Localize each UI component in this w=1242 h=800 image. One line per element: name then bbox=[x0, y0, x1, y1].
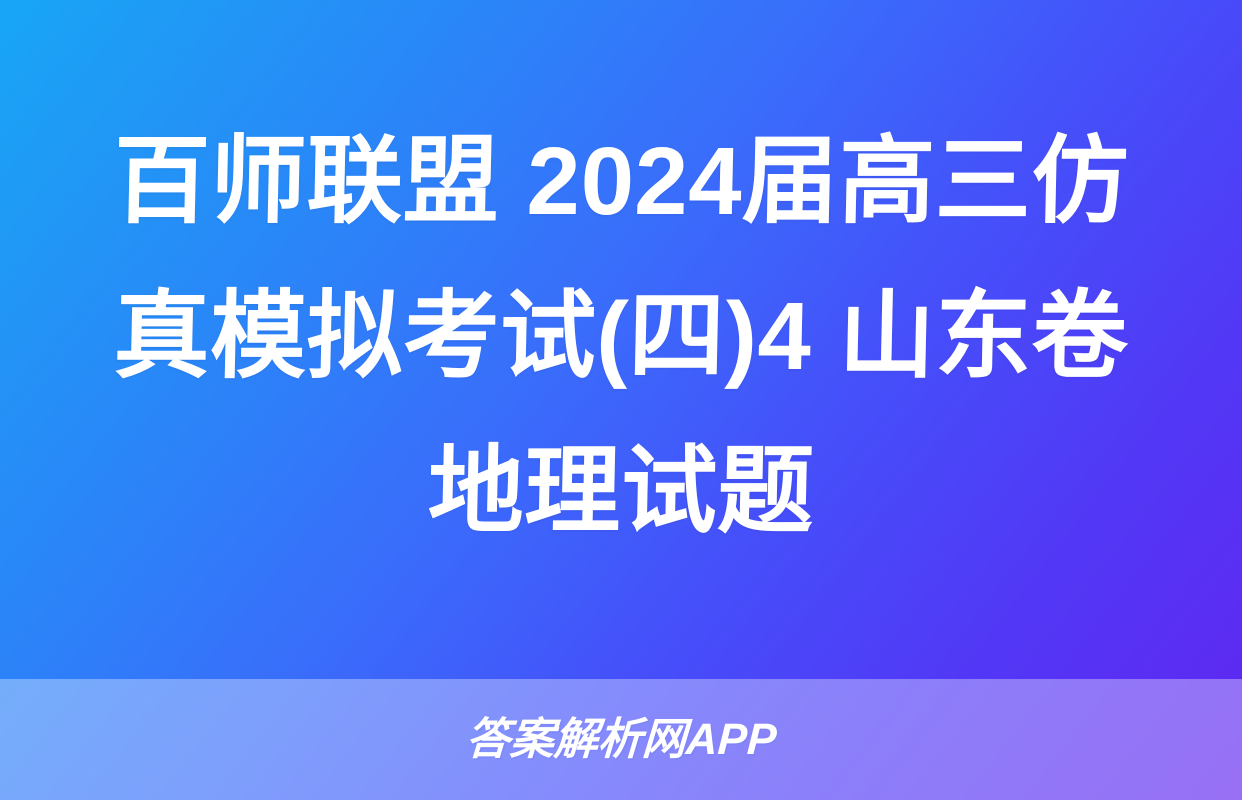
watermark-band: 答案解析网APP bbox=[0, 679, 1242, 800]
title-panel: 百师联盟 2024届高三仿 真模拟考试(四)4 山东卷 地理试题 bbox=[0, 0, 1242, 679]
poster-canvas: 百师联盟 2024届高三仿 真模拟考试(四)4 山东卷 地理试题 答案解析网AP… bbox=[0, 0, 1242, 800]
title-line-1: 百师联盟 2024届高三仿 bbox=[44, 104, 1197, 259]
title-line-2: 真模拟考试(四)4 山东卷 bbox=[44, 259, 1197, 414]
page-title: 百师联盟 2024届高三仿 真模拟考试(四)4 山东卷 地理试题 bbox=[46, 104, 1196, 569]
title-line-3: 地理试题 bbox=[44, 414, 1197, 569]
watermark-app-label: 答案解析网APP bbox=[465, 718, 778, 762]
